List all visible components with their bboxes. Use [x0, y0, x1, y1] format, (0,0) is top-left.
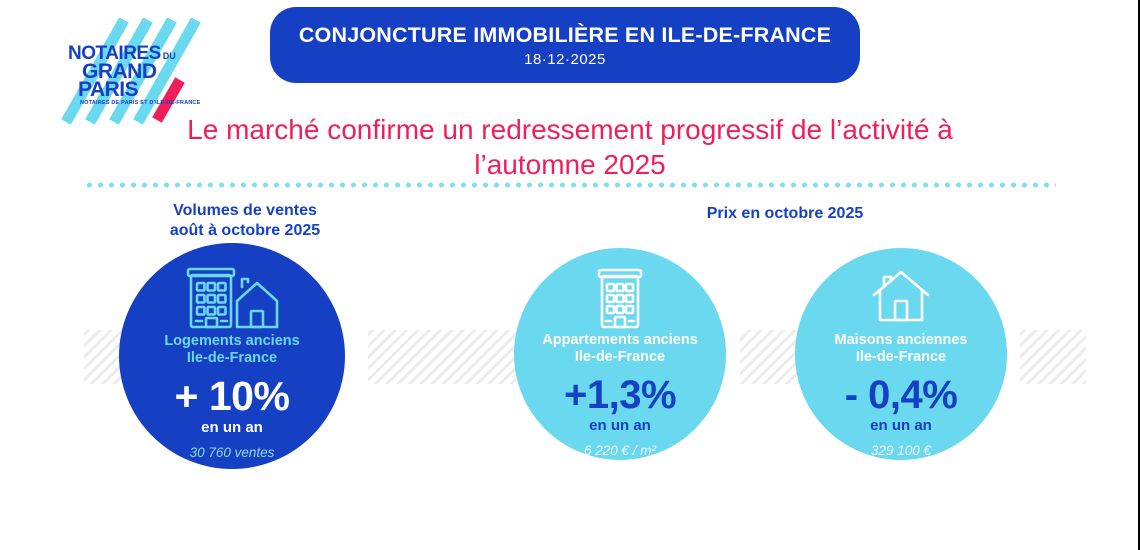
indicator-value-maisons: - 0,4%: [845, 375, 958, 415]
indicator-name-line1: Maisons anciennes: [835, 332, 968, 349]
indicator-period-appartements: en un an: [589, 417, 651, 434]
section-label-volumes-line2: août à octobre 2025: [135, 221, 355, 241]
building-icon: [592, 264, 648, 330]
indicator-name-line1: Logements anciens: [164, 333, 299, 350]
indicator-detail-maisons: 329 100 €: [871, 443, 931, 458]
dotted-divider: [84, 182, 1056, 188]
logo-tagline: NOTAIRES DE PARIS ET D'ILE-DE-FRANCE: [68, 101, 218, 106]
hatch-band-segment: [740, 330, 800, 384]
logo-line-paris: PARIS: [68, 81, 218, 99]
indicator-circle-maisons-anciennes: Maisons anciennes Ile-de-France - 0,4% e…: [795, 248, 1007, 460]
hatch-band-segment: [368, 330, 536, 384]
indicator-value-logements: + 10%: [175, 376, 290, 417]
section-label-volumes-line1: Volumes de ventes: [135, 201, 355, 221]
indicator-detail-appartements: 6 220 € / m²: [584, 443, 656, 458]
header-banner: CONJONCTURE IMMOBILIÈRE EN ILE-DE-FRANCE…: [270, 7, 860, 83]
indicator-circle-logements-anciens: Logements anciens Ile-de-France + 10% en…: [119, 243, 345, 469]
indicator-period-maisons: en un an: [870, 417, 932, 434]
hatch-band-segment: [1020, 330, 1086, 384]
banner-date: 18·12·2025: [524, 51, 606, 68]
indicator-name-logements: Logements anciens Ile-de-France: [164, 333, 299, 368]
indicator-period-logements: en un an: [201, 419, 263, 436]
infographic-page: NOTAIRES DU GRAND PARIS NOTAIRES DE PARI…: [0, 0, 1140, 550]
indicator-name-line1: Appartements anciens: [542, 332, 698, 349]
indicator-circle-appartements-anciens: Appartements anciens Ile-de-France +1,3%…: [514, 248, 726, 460]
indicator-value-appartements: +1,3%: [564, 375, 676, 415]
headline-text: Le marché confirme un redressement progr…: [180, 112, 960, 182]
house-icon: [869, 264, 933, 330]
logo-du-text: DU: [163, 53, 176, 61]
section-label-prix: Prix en octobre 2025: [670, 204, 900, 224]
indicator-name-line2: Ile-de-France: [835, 349, 968, 366]
indicator-name-line2: Ile-de-France: [542, 349, 698, 366]
building-house-icon: [179, 261, 285, 331]
indicator-name-line2: Ile-de-France: [164, 350, 299, 367]
logo-wordmark: NOTAIRES DU GRAND PARIS NOTAIRES DE PARI…: [68, 46, 218, 105]
indicator-detail-logements: 30 760 ventes: [190, 445, 275, 460]
section-label-volumes: Volumes de ventes août à octobre 2025: [135, 201, 355, 241]
indicator-name-maisons: Maisons anciennes Ile-de-France: [835, 332, 968, 367]
indicator-name-appartements: Appartements anciens Ile-de-France: [542, 332, 698, 367]
banner-title: CONJONCTURE IMMOBILIÈRE EN ILE-DE-FRANCE: [299, 23, 831, 48]
